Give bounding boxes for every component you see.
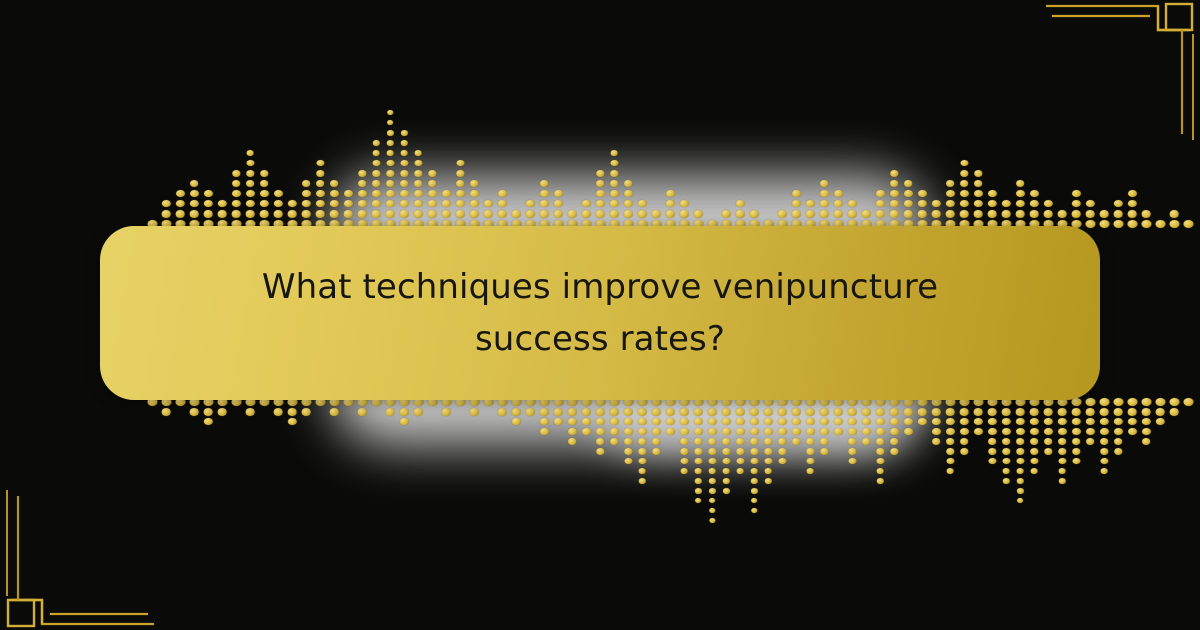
- waveform-dot: [470, 180, 479, 187]
- waveform-dot: [511, 408, 521, 416]
- waveform-dot: [539, 210, 549, 218]
- waveform-dot: [1085, 408, 1095, 416]
- waveform-dot: [386, 150, 394, 156]
- waveform-dot: [595, 408, 605, 416]
- waveform-dot: [581, 418, 590, 425]
- waveform-dot: [903, 428, 912, 435]
- waveform-dot: [959, 190, 968, 197]
- waveform-dot: [721, 408, 731, 416]
- waveform-dot: [1141, 220, 1151, 228]
- waveform-dot: [819, 200, 828, 207]
- waveform-dot: [637, 418, 646, 425]
- waveform-dot: [693, 210, 703, 218]
- waveform-dot: [525, 200, 534, 207]
- waveform-dot: [1029, 210, 1039, 218]
- waveform-dot: [1169, 408, 1179, 416]
- waveform-dot: [1100, 438, 1109, 445]
- waveform-dot: [1043, 418, 1052, 425]
- waveform-dot: [764, 438, 773, 445]
- waveform-dot: [1127, 210, 1137, 218]
- waveform-dot: [987, 200, 996, 207]
- waveform-dot: [1015, 210, 1025, 218]
- waveform-dot: [1071, 428, 1080, 435]
- top-right-art-deco-corner: [1030, 0, 1200, 140]
- waveform-dot: [903, 190, 912, 197]
- waveform-dot: [889, 428, 898, 435]
- waveform-dot: [1085, 220, 1095, 228]
- waveform-dot: [1016, 438, 1025, 445]
- waveform-dot: [679, 210, 689, 218]
- waveform-dot: [372, 140, 379, 146]
- waveform-dot: [693, 408, 703, 416]
- waveform-dot: [469, 190, 478, 197]
- waveform-dot: [1085, 210, 1095, 218]
- waveform-dot: [372, 160, 380, 166]
- waveform-dot: [959, 408, 969, 416]
- waveform-dot: [735, 408, 745, 416]
- waveform-dot: [987, 418, 996, 425]
- waveform-dot: [567, 210, 577, 218]
- waveform-dot: [946, 180, 955, 187]
- waveform-dot: [400, 160, 408, 166]
- waveform-dot: [539, 418, 548, 425]
- waveform-dot: [875, 190, 884, 197]
- waveform-dot: [483, 210, 493, 218]
- waveform-dot: [1085, 398, 1095, 406]
- waveform-dot: [246, 170, 254, 177]
- waveform-dot: [1113, 428, 1122, 435]
- waveform-dot: [413, 190, 422, 197]
- waveform-dot: [301, 210, 311, 218]
- waveform-dot: [246, 150, 254, 156]
- waveform-dot: [497, 210, 507, 218]
- waveform-dot: [287, 408, 297, 416]
- waveform-dot: [455, 190, 464, 197]
- waveform-dot: [777, 408, 787, 416]
- waveform-dot: [497, 200, 506, 207]
- waveform-dot: [736, 448, 744, 455]
- waveform-dot: [400, 150, 408, 156]
- waveform-dot: [441, 408, 451, 416]
- waveform-dot: [1015, 418, 1024, 425]
- waveform-dot: [778, 458, 786, 464]
- waveform-dot: [386, 180, 395, 187]
- waveform-dot: [273, 210, 283, 218]
- waveform-dot: [539, 200, 548, 207]
- waveform-dot: [960, 438, 969, 445]
- waveform-dot: [707, 418, 716, 425]
- waveform-dot: [609, 428, 618, 435]
- waveform-dot: [806, 468, 814, 474]
- waveform-dot: [413, 210, 423, 218]
- waveform-dot: [931, 418, 940, 425]
- waveform-dot: [973, 190, 982, 197]
- waveform-dot: [987, 210, 997, 218]
- waveform-dot: [651, 418, 660, 425]
- waveform-dot: [1141, 418, 1150, 425]
- waveform-dot: [1043, 200, 1052, 207]
- waveform-dot: [1015, 190, 1024, 197]
- waveform-dot: [387, 120, 394, 125]
- waveform-dot: [1114, 438, 1123, 445]
- waveform-dot: [399, 190, 408, 197]
- waveform-dot: [161, 200, 170, 207]
- waveform-dot: [1002, 438, 1011, 445]
- waveform-dot: [1072, 448, 1080, 455]
- waveform-dot: [806, 448, 814, 455]
- waveform-dot: [1030, 458, 1038, 464]
- waveform-dot: [1141, 210, 1151, 218]
- waveform-dot: [1044, 438, 1053, 445]
- waveform-dot: [820, 180, 829, 187]
- waveform-dot: [791, 210, 801, 218]
- waveform-dot: [1029, 190, 1038, 197]
- waveform-dot: [876, 468, 884, 474]
- waveform-dot: [945, 408, 955, 416]
- waveform-dot: [231, 190, 240, 197]
- waveform-dot: [722, 478, 729, 484]
- waveform-dot: [652, 448, 660, 455]
- waveform-dot: [302, 180, 311, 187]
- waveform-dot: [1100, 448, 1108, 455]
- waveform-dot: [695, 498, 702, 503]
- waveform-dot: [819, 190, 828, 197]
- waveform-dot: [945, 418, 954, 425]
- waveform-dot: [637, 428, 646, 435]
- waveform-dot: [1072, 438, 1081, 445]
- waveform-dot: [441, 200, 450, 207]
- waveform-dot: [763, 418, 772, 425]
- waveform-dot: [750, 438, 759, 445]
- waveform-dot: [372, 170, 380, 177]
- waveform-dot: [1058, 468, 1066, 474]
- waveform-dot: [721, 418, 730, 425]
- waveform-dot: [638, 458, 646, 464]
- waveform-dot: [1015, 428, 1024, 435]
- waveform-dot: [1155, 398, 1165, 406]
- waveform-dot: [596, 438, 605, 445]
- waveform-dot: [469, 408, 479, 416]
- waveform-dot: [259, 210, 269, 218]
- waveform-dot: [245, 190, 254, 197]
- waveform-dot: [1002, 448, 1010, 455]
- waveform-dot: [273, 190, 282, 197]
- waveform-dot: [203, 200, 212, 207]
- waveform-dot: [623, 428, 632, 435]
- waveform-dot: [553, 418, 562, 425]
- waveform-dot: [1029, 200, 1038, 207]
- waveform-dot: [610, 180, 619, 187]
- waveform-dot: [709, 518, 715, 523]
- waveform-dot: [175, 200, 184, 207]
- waveform-dot: [694, 448, 702, 455]
- waveform-dot: [651, 210, 661, 218]
- waveform-dot: [1029, 428, 1038, 435]
- waveform-dot: [693, 418, 702, 425]
- waveform-dot: [917, 418, 926, 425]
- waveform-dot: [847, 210, 857, 218]
- waveform-dot: [1001, 428, 1010, 435]
- waveform-dot: [1015, 200, 1024, 207]
- waveform-dot: [624, 448, 632, 455]
- waveform-dot: [203, 418, 212, 425]
- waveform-dot: [189, 408, 199, 416]
- waveform-dot: [245, 408, 255, 416]
- waveform-dot: [400, 180, 409, 187]
- waveform-dot: [848, 448, 856, 455]
- waveform-dot: [917, 200, 926, 207]
- waveform-dot: [637, 210, 647, 218]
- waveform-dot: [232, 170, 240, 177]
- waveform-dot: [357, 408, 367, 416]
- waveform-dot: [329, 210, 339, 218]
- waveform-dot: [889, 200, 898, 207]
- waveform-dot: [1058, 448, 1066, 455]
- waveform-dot: [680, 448, 688, 455]
- waveform-dot: [749, 210, 759, 218]
- waveform-dot: [862, 438, 871, 445]
- waveform-dot: [595, 190, 604, 197]
- waveform-dot: [399, 418, 408, 425]
- waveform-dot: [917, 210, 927, 218]
- waveform-dot: [567, 418, 576, 425]
- waveform-dot: [777, 428, 786, 435]
- waveform-dot: [1058, 458, 1066, 464]
- waveform-dot: [945, 200, 954, 207]
- waveform-dot: [890, 438, 899, 445]
- waveform-dot: [245, 200, 254, 207]
- waveform-dot: [946, 438, 955, 445]
- waveform-dot: [1057, 428, 1066, 435]
- waveform-dot: [1141, 398, 1151, 406]
- waveform-dot: [946, 458, 954, 464]
- waveform-dot: [791, 190, 800, 197]
- waveform-dot: [750, 478, 757, 484]
- waveform-dot: [1113, 408, 1123, 416]
- waveform-dot: [665, 190, 674, 197]
- waveform-dot: [847, 428, 856, 435]
- waveform-dot: [1029, 418, 1038, 425]
- waveform-dot: [778, 438, 787, 445]
- waveform-dot: [1099, 220, 1109, 228]
- waveform-dot: [735, 418, 744, 425]
- waveform-dot: [372, 150, 380, 156]
- waveform-dot: [315, 210, 325, 218]
- waveform-dot: [567, 408, 577, 416]
- waveform-dot: [875, 210, 885, 218]
- waveform-dot: [945, 210, 955, 218]
- waveform-dot: [820, 438, 829, 445]
- waveform-dot: [750, 488, 757, 494]
- waveform-dot: [273, 200, 282, 207]
- waveform-dot: [833, 428, 842, 435]
- waveform-dot: [903, 200, 912, 207]
- waveform-dot: [1127, 190, 1136, 197]
- waveform-dot: [946, 448, 954, 455]
- waveform-dot: [231, 210, 241, 218]
- waveform-dot: [1071, 190, 1080, 197]
- waveform-dot: [385, 190, 394, 197]
- waveform-dot: [876, 438, 885, 445]
- waveform-dot: [819, 210, 829, 218]
- waveform-dot: [708, 478, 715, 484]
- waveform-dot: [623, 190, 632, 197]
- waveform-dot: [469, 200, 478, 207]
- waveform-dot: [455, 210, 465, 218]
- waveform-dot: [1086, 438, 1095, 445]
- waveform-dot: [217, 408, 227, 416]
- waveform-dot: [231, 200, 240, 207]
- waveform-dot: [1099, 418, 1108, 425]
- waveform-dot: [428, 170, 436, 177]
- waveform-dot: [1001, 210, 1011, 218]
- waveform-dot: [413, 200, 422, 207]
- waveform-dot: [749, 408, 759, 416]
- waveform-dot: [245, 210, 255, 218]
- waveform-dot: [903, 408, 913, 416]
- waveform-dot: [960, 170, 968, 177]
- waveform-dot: [708, 438, 717, 445]
- waveform-dot: [974, 180, 983, 187]
- waveform-dot: [441, 210, 451, 218]
- waveform-dot: [456, 180, 465, 187]
- waveform-dot: [1113, 220, 1123, 228]
- waveform-dot: [483, 200, 492, 207]
- waveform-dot: [539, 190, 548, 197]
- waveform-dot: [777, 210, 787, 218]
- waveform-dot: [203, 408, 213, 416]
- waveform-dot: [190, 180, 199, 187]
- waveform-dot: [694, 458, 702, 464]
- waveform-dot: [1016, 478, 1023, 484]
- waveform-dot: [903, 418, 912, 425]
- waveform-dot: [1085, 428, 1094, 435]
- waveform-dot: [525, 210, 535, 218]
- waveform-dot: [960, 448, 968, 455]
- waveform-dot: [581, 408, 591, 416]
- waveform-dot: [511, 418, 520, 425]
- waveform-dot: [665, 428, 674, 435]
- waveform-dot: [694, 488, 701, 494]
- waveform-dot: [1015, 408, 1025, 416]
- waveform-dot: [1099, 408, 1109, 416]
- waveform-dot: [287, 210, 297, 218]
- waveform-dot: [1016, 468, 1024, 474]
- waveform-dot: [1002, 458, 1010, 464]
- waveform-dot: [722, 448, 730, 455]
- waveform-dot: [638, 478, 645, 484]
- waveform-dot: [1016, 180, 1025, 187]
- waveform-dot: [330, 180, 339, 187]
- waveform-dot: [945, 428, 954, 435]
- waveform-dot: [1142, 438, 1151, 445]
- waveform-dot: [875, 428, 884, 435]
- waveform-dot: [386, 140, 393, 146]
- waveform-dot: [385, 200, 394, 207]
- waveform-dot: [301, 200, 310, 207]
- waveform-dot: [722, 468, 730, 474]
- waveform-dot: [329, 190, 338, 197]
- waveform-dot: [343, 190, 352, 197]
- waveform-dot: [693, 428, 702, 435]
- waveform-dot: [315, 190, 324, 197]
- waveform-dot: [189, 190, 198, 197]
- waveform-dot: [246, 160, 254, 166]
- waveform-dot: [988, 438, 997, 445]
- waveform-dot: [806, 438, 815, 445]
- waveform-dot: [301, 408, 311, 416]
- waveform-dot: [610, 160, 618, 166]
- waveform-dot: [1001, 408, 1011, 416]
- waveform-dot: [175, 190, 184, 197]
- waveform-dot: [889, 210, 899, 218]
- waveform-dot: [1030, 468, 1038, 474]
- waveform-dot: [1099, 428, 1108, 435]
- waveform-dot: [260, 180, 269, 187]
- waveform-dot: [595, 210, 605, 218]
- waveform-dot: [1058, 478, 1065, 484]
- waveform-dot: [1114, 448, 1122, 455]
- waveform-dot: [1127, 408, 1137, 416]
- waveform-dot: [707, 428, 716, 435]
- waveform-dot: [1113, 418, 1122, 425]
- waveform-dot: [329, 200, 338, 207]
- waveform-dot: [1030, 438, 1039, 445]
- waveform-dot: [791, 428, 800, 435]
- waveform-dot: [708, 468, 716, 474]
- waveform-dot: [609, 210, 619, 218]
- waveform-dot: [679, 428, 688, 435]
- waveform-dot: [791, 200, 800, 207]
- waveform-dot: [455, 200, 464, 207]
- waveform-dot: [1141, 408, 1151, 416]
- waveform-dot: [946, 468, 954, 474]
- waveform-dot: [736, 438, 745, 445]
- waveform-dot: [553, 200, 562, 207]
- waveform-dot: [763, 428, 772, 435]
- waveform-dot: [273, 408, 283, 416]
- waveform-dot: [400, 170, 408, 177]
- waveform-dot: [1183, 220, 1193, 228]
- waveform-dot: [749, 428, 758, 435]
- waveform-dot: [1071, 408, 1081, 416]
- waveform-dot: [581, 200, 590, 207]
- waveform-dot: [876, 448, 884, 455]
- waveform-dot: [708, 458, 716, 464]
- waveform-dot: [316, 170, 324, 177]
- waveform-dot: [665, 408, 675, 416]
- waveform-dot: [1030, 448, 1038, 455]
- waveform-dot: [751, 508, 757, 513]
- waveform-dot: [610, 150, 618, 156]
- waveform-dot: [568, 438, 577, 445]
- waveform-dot: [750, 448, 758, 455]
- waveform-dot: [973, 428, 982, 435]
- waveform-dot: [988, 448, 996, 455]
- waveform-dot: [637, 200, 646, 207]
- waveform-dot: [1155, 408, 1165, 416]
- waveform-dot: [259, 200, 268, 207]
- waveform-dot: [931, 428, 940, 435]
- waveform-dot: [567, 428, 576, 435]
- waveform-dot: [931, 408, 941, 416]
- waveform-dot: [679, 408, 689, 416]
- waveform-dot: [680, 458, 688, 464]
- waveform-dot: [973, 418, 982, 425]
- waveform-dot: [722, 458, 730, 464]
- waveform-dot: [764, 478, 771, 484]
- waveform-dot: [792, 438, 801, 445]
